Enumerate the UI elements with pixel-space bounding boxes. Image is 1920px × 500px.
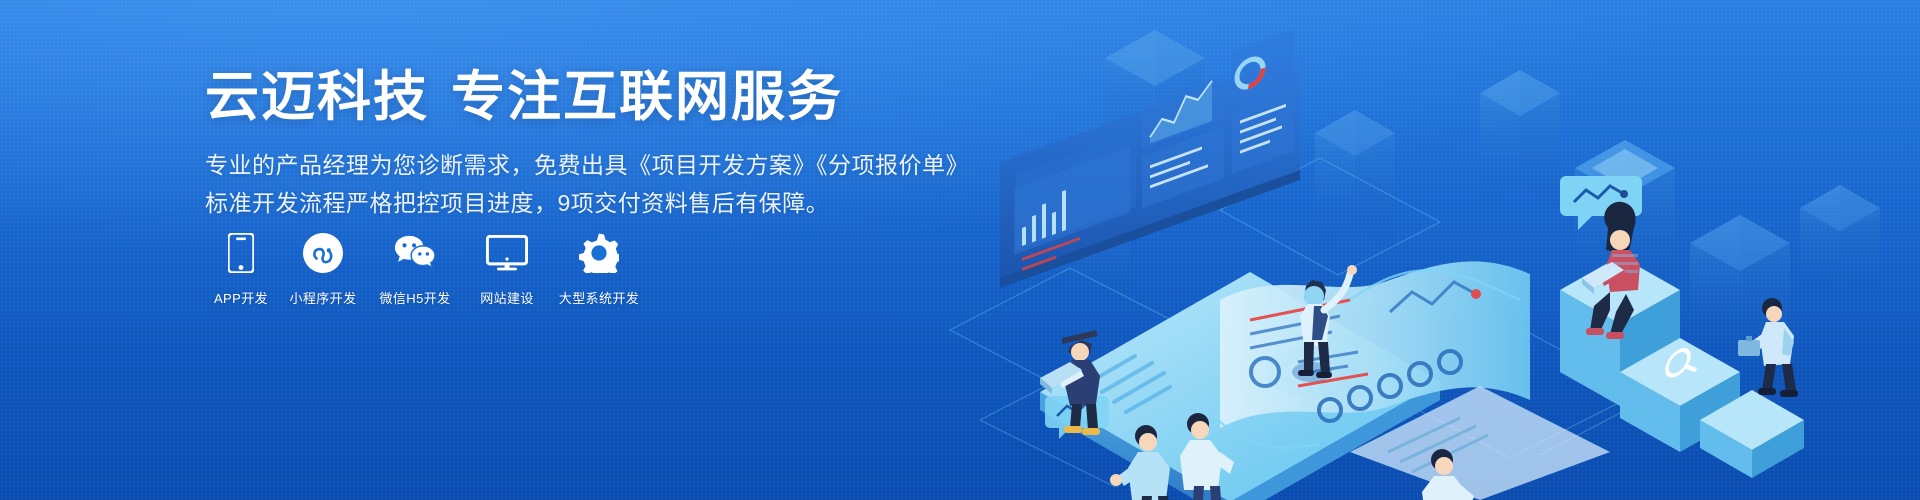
service-item-app[interactable]: APP开发 [205, 232, 277, 307]
mini-program-icon [302, 232, 344, 274]
banner-subtitle: 专业的产品经理为您诊断需求，免费出具《项目开发方案》《分项报价单》 标准开发流程… [205, 146, 969, 222]
gear-icon [578, 232, 620, 274]
service-icon-row: APP开发 小程序开发 [205, 232, 645, 307]
subtitle-line-1: 专业的产品经理为您诊断需求，免费出具《项目开发方案》《分项报价单》 [205, 146, 969, 184]
mobile-phone-icon [220, 232, 262, 274]
isometric-tech-teamwork-illustration [920, 0, 1920, 500]
service-item-wechat[interactable]: 微信H5开发 [369, 232, 461, 307]
wechat-icon [394, 232, 436, 274]
service-label-website: 网站建设 [480, 288, 534, 307]
service-label-miniprogram: 小程序开发 [289, 288, 356, 307]
page-title: 云迈科技专注互联网服务 [205, 68, 843, 127]
service-label-system: 大型系统开发 [559, 288, 639, 307]
service-item-website[interactable]: 网站建设 [461, 232, 553, 307]
subtitle-line-2: 标准开发流程严格把控项目进度，9项交付资料售后有保障。 [205, 184, 969, 222]
monitor-icon [486, 232, 528, 274]
service-item-system[interactable]: 大型系统开发 [553, 232, 645, 307]
headline-tagline: 专注互联网服务 [451, 67, 843, 127]
headline-brand: 云迈科技 [205, 67, 429, 127]
banner-content: 云迈科技专注互联网服务 专业的产品经理为您诊断需求，免费出具《项目开发方案》《分… [205, 0, 965, 500]
promo-banner: 云迈科技专注互联网服务 专业的产品经理为您诊断需求，免费出具《项目开发方案》《分… [0, 0, 1920, 500]
service-label-app: APP开发 [214, 288, 268, 307]
service-item-miniprogram[interactable]: 小程序开发 [277, 232, 369, 307]
illustration-container [920, 0, 1920, 500]
service-label-wechat: 微信H5开发 [379, 288, 450, 307]
